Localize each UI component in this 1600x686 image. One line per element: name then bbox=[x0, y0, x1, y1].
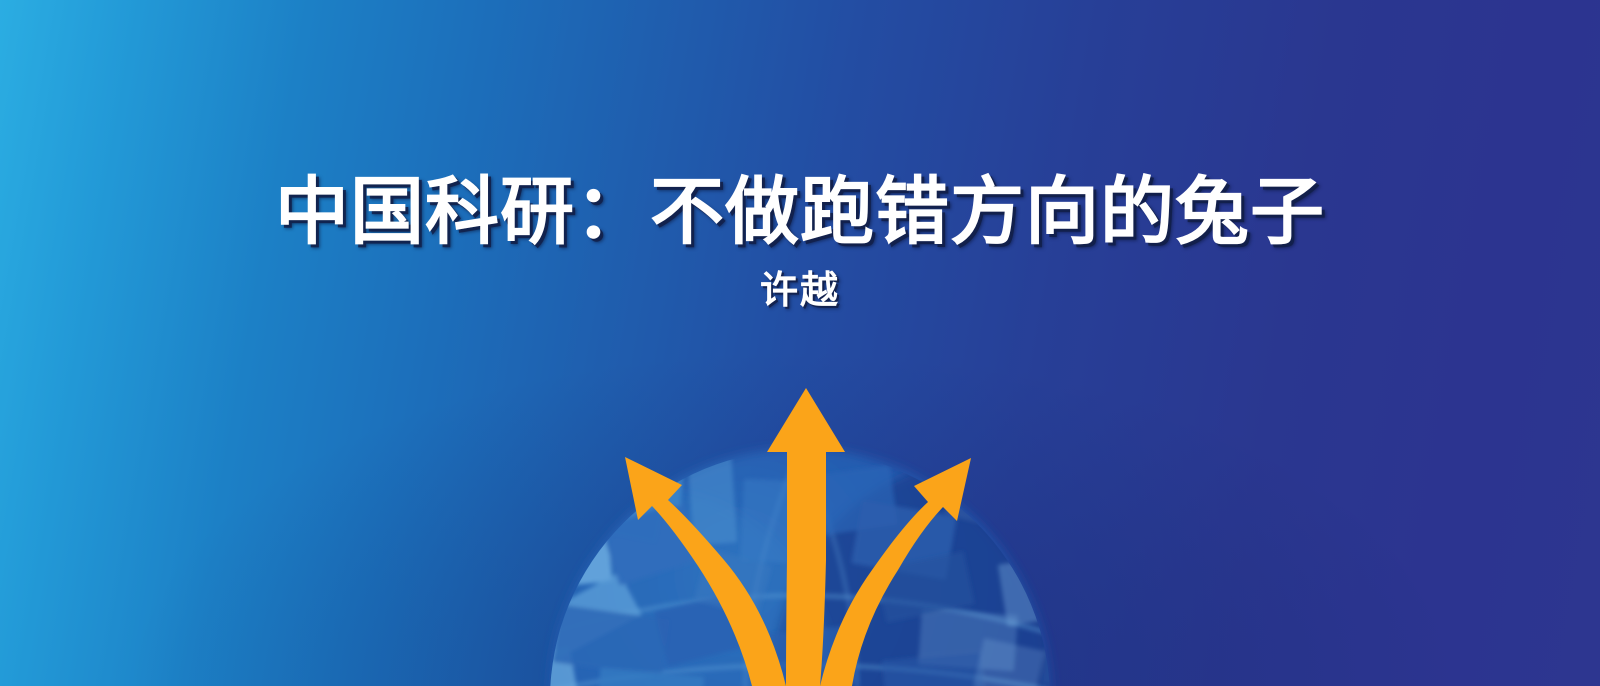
presentation-slide: 中国科研：不做跑错方向的兔子 许越 bbox=[0, 0, 1600, 686]
author-name: 许越 bbox=[0, 270, 1600, 312]
background-vignette bbox=[0, 0, 1600, 686]
page-title: 中国科研：不做跑错方向的兔子 bbox=[0, 170, 1600, 254]
title-block: 中国科研：不做跑错方向的兔子 许越 bbox=[0, 170, 1600, 312]
